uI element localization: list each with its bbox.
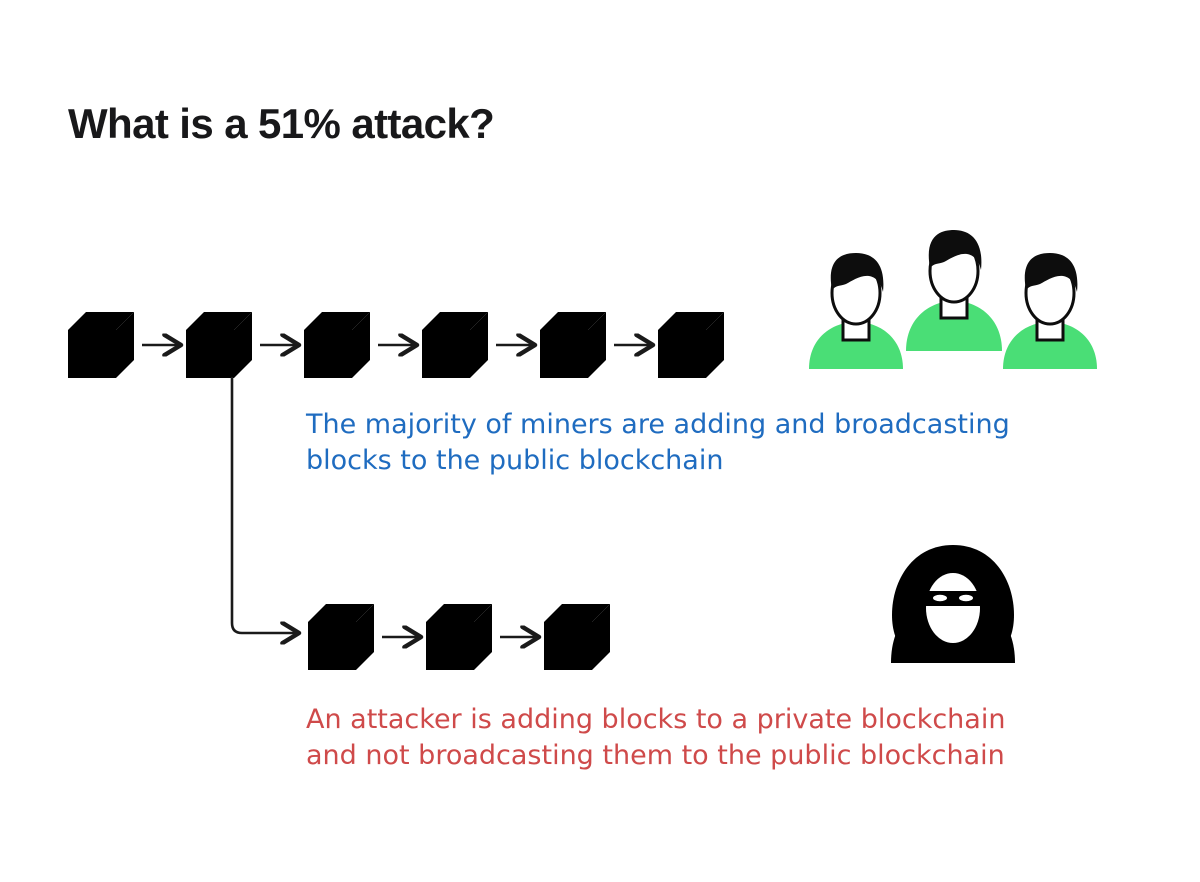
public-chain-group: [68, 312, 724, 378]
private-chain-group: [308, 604, 610, 670]
attacker-figure: [891, 545, 1015, 663]
fork-connector: [232, 378, 298, 633]
public-block-1: [68, 312, 134, 378]
attacker-face: [926, 573, 980, 643]
public-block-6: [658, 312, 724, 378]
public-block-2: [186, 312, 252, 378]
miner-figure-left: [809, 253, 903, 369]
miner-figure-right: [1003, 253, 1097, 369]
miners-group: [809, 230, 1097, 369]
private-block-3: [544, 604, 610, 670]
private-block-1: [308, 604, 374, 670]
miner-figure-center: [906, 230, 1002, 351]
public-block-5: [540, 312, 606, 378]
slide-canvas: What is a 51% attack? The majority of mi…: [0, 0, 1200, 882]
public-block-4: [422, 312, 488, 378]
attacker-eye-right: [959, 595, 973, 601]
attacker-eye-left: [933, 595, 947, 601]
blockchain-fork-diagram: .cube-blue .cube-front, .cube-blue .cube…: [0, 0, 1200, 882]
private-block-2: [426, 604, 492, 670]
public-block-3: [304, 312, 370, 378]
